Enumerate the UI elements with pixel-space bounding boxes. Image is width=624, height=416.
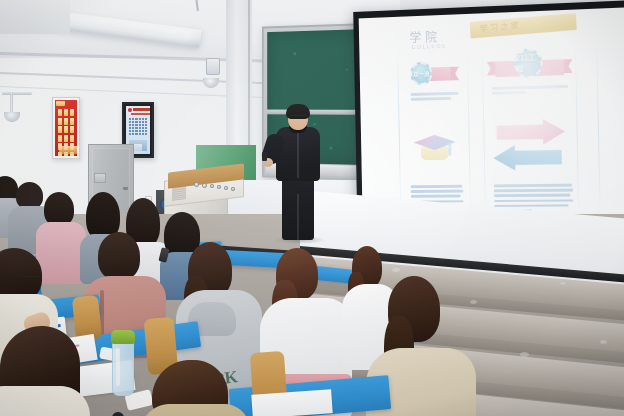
student-row1-pink-top	[36, 222, 86, 284]
camera-arm-left	[10, 92, 13, 114]
notice-emblem-icon	[128, 108, 132, 112]
red-poster-footer	[59, 146, 77, 154]
arrow-left-icon	[493, 144, 562, 171]
water-bottle-cap[interactable]	[111, 330, 135, 344]
front-left-glasses-icon	[20, 276, 40, 281]
notice-subtitle-bar	[131, 113, 150, 115]
slide-title-subtitle: COLLEGE	[412, 44, 448, 51]
red-poster-surface	[55, 100, 77, 156]
graduation-cap-icon	[413, 134, 460, 164]
box-camera-icon	[206, 58, 220, 75]
notice-text-grid	[129, 118, 147, 135]
right-column-subcaption	[492, 85, 570, 97]
camera-bracket-left	[2, 92, 32, 95]
lecturer-jacket-zip	[297, 130, 299, 178]
slide-right-column: 211工程	[489, 45, 571, 48]
red-poster-header	[56, 101, 65, 106]
classroom-photograph: ❄ 学院 COLLEGE 学习之家 双一流	[0, 0, 624, 416]
red-values-poster	[52, 97, 80, 159]
arrow-right-icon	[496, 119, 565, 146]
handout-paper-3[interactable]	[251, 389, 332, 416]
slide-divider-3	[482, 46, 486, 210]
door-handle[interactable]	[123, 187, 128, 190]
front-yellow-top	[0, 386, 90, 416]
lecturer-glasses-icon	[289, 115, 307, 119]
water-bottle-highlight	[116, 348, 120, 386]
podium-knob-3[interactable]	[217, 185, 221, 189]
front-tan-top	[140, 404, 250, 416]
student-row1-left-hair	[16, 182, 43, 209]
lecturer	[272, 106, 328, 248]
student-row2-rose-hair	[98, 232, 140, 280]
left-column-subcaption	[411, 92, 461, 103]
slide-divider-5	[596, 42, 600, 210]
podium-knob-2[interactable]	[210, 184, 214, 188]
left-column-seal: 双一流	[410, 62, 432, 86]
lecturer-leg-gap	[297, 194, 299, 240]
presentation-clicker-icon[interactable]	[262, 152, 267, 161]
slide-divider-1	[397, 49, 401, 211]
podium-knob-1[interactable]	[202, 183, 207, 188]
podium-knob-4[interactable]	[224, 186, 228, 190]
podium-knob-6[interactable]	[194, 182, 199, 187]
podium-knob-5[interactable]	[231, 187, 235, 191]
slide-divider-2	[467, 47, 471, 211]
lamp-housing	[0, 0, 70, 34]
student-row1-pink-hair	[44, 192, 74, 226]
notice-title-bar	[133, 108, 150, 111]
slide-divider-4	[575, 43, 579, 210]
door-plate	[94, 173, 106, 183]
